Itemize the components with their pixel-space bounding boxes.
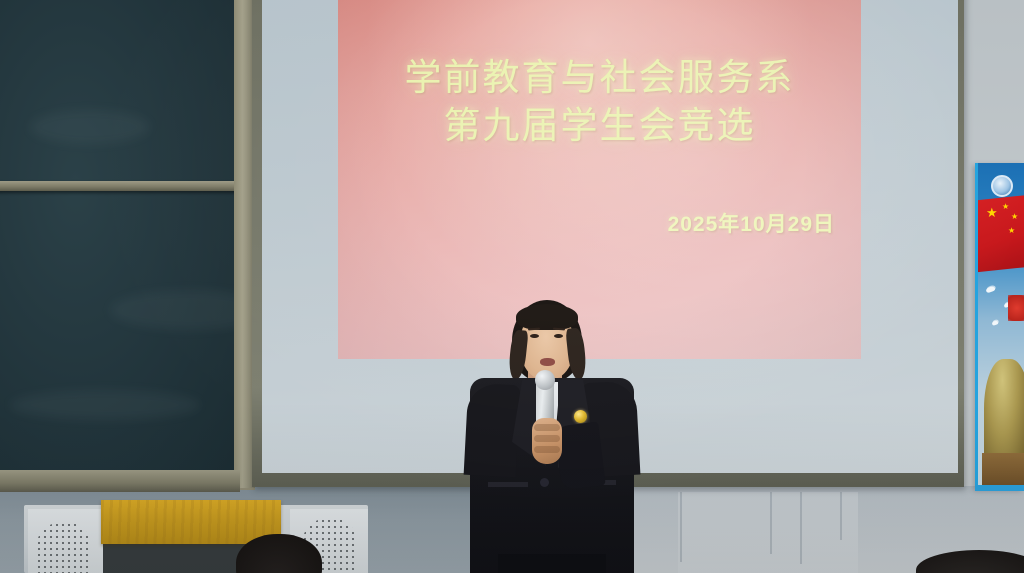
chalk-smudge — [10, 390, 200, 420]
slide-title: 学前教育与社会服务系 第九届学生会竞选 — [338, 55, 861, 151]
finger — [534, 446, 560, 453]
eye-left — [530, 334, 539, 338]
finger — [534, 435, 560, 442]
blackboard-divider-rail — [0, 181, 238, 191]
blazer-pocket-left — [488, 482, 528, 487]
speaker-grille-left — [36, 522, 92, 573]
hand-holding-microphone — [532, 418, 562, 464]
eye-right — [554, 334, 563, 338]
blackboard — [0, 0, 235, 472]
wall-streak — [840, 492, 842, 540]
poster-bottom-edge — [975, 485, 1024, 491]
school-emblem-icon — [991, 175, 1013, 197]
podium-wooden-top — [101, 500, 281, 544]
wall-poster: ★ ★ ★ ★ — [975, 163, 1024, 489]
blazer-button — [540, 478, 549, 487]
presentation-photo-scene: 学前教育与社会服务系 第九届学生会竞选 2025年10月29日 ★ ★ ★ ★ — [0, 0, 1024, 573]
finger — [534, 424, 560, 431]
wall-streak — [800, 492, 802, 564]
poster-red-accent — [1008, 295, 1024, 321]
chinese-flag-icon — [978, 194, 1024, 272]
skirt — [498, 554, 606, 573]
flag-star-icon: ★ — [1008, 225, 1015, 236]
slide-date: 2025年10月29日 — [338, 208, 861, 238]
mouth — [540, 358, 555, 366]
student-speaker — [462, 296, 642, 573]
flag-star-icon: ★ — [1002, 201, 1009, 212]
microphone-head-icon — [535, 370, 555, 390]
stone-lion-base — [982, 453, 1024, 485]
flag-star-icon: ★ — [1011, 211, 1018, 222]
wall-streak — [770, 492, 772, 554]
lapel-badge-icon — [574, 410, 587, 423]
blazer-shoulder-left — [464, 383, 521, 478]
wall-light-panel — [678, 492, 858, 573]
wall-streak — [680, 492, 682, 562]
hair-fringe — [516, 304, 578, 330]
blackboard-chalk-tray — [0, 470, 240, 492]
flag-star-icon: ★ — [986, 207, 998, 218]
chalk-smudge — [30, 110, 150, 144]
